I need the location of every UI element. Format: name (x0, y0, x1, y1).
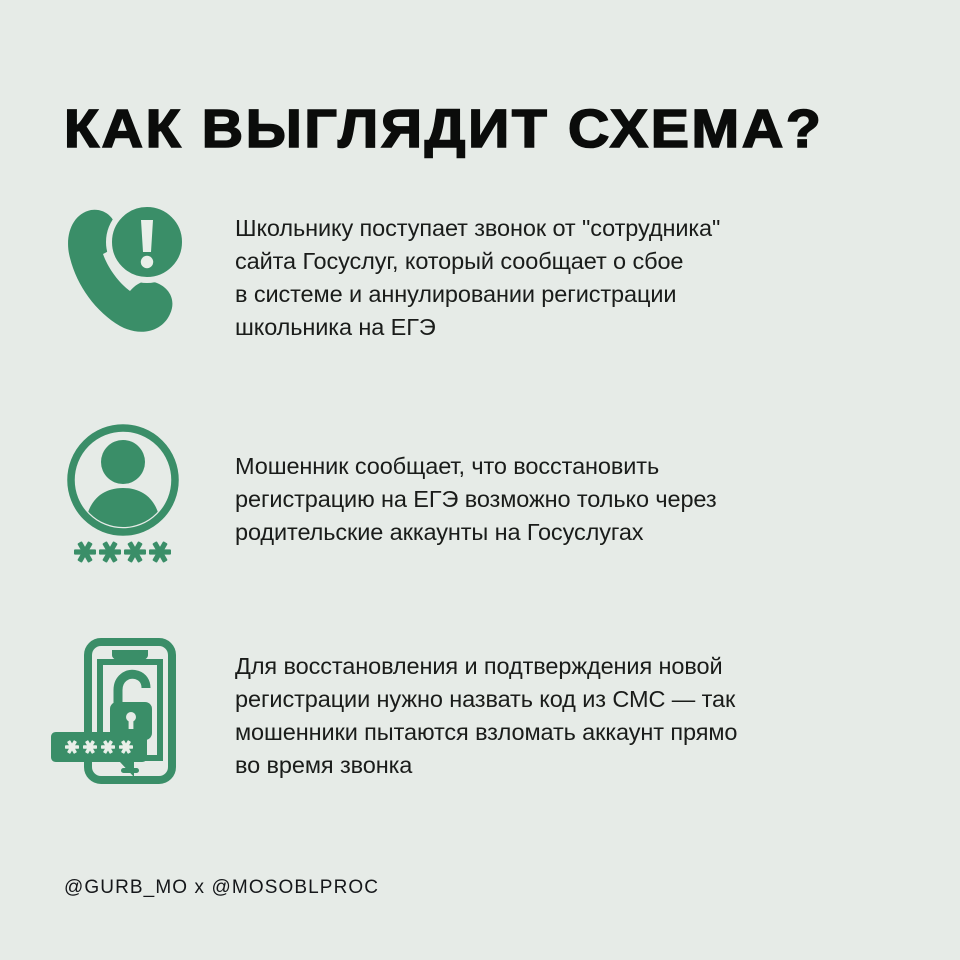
step-item-1: Школьнику поступает звонок от "сотрудник… (0, 196, 960, 344)
step-item-2: Мошенник сообщает, что восстановить реги… (0, 420, 960, 570)
step-1-icon-cell (0, 196, 235, 336)
step-3-icon-cell (0, 636, 235, 786)
step-item-3: Для восстановления и подтверждения новой… (0, 636, 960, 786)
footer-credits: @GURB_MO x @MOSOBLPROC (64, 876, 379, 900)
infographic-poster: КАК ВЫГЛЯДИТ СХЕМА? Школьнику поступает … (0, 0, 960, 960)
page-title: КАК ВЫГЛЯДИТ СХЕМА? (64, 100, 960, 158)
step-2-text-cell: Мошенник сообщает, что восстановить реги… (235, 420, 960, 549)
step-1-text-cell: Школьнику поступает звонок от "сотрудник… (235, 196, 960, 344)
step-2-text: Мошенник сообщает, что восстановить реги… (235, 450, 932, 549)
user-account-password-icon (58, 420, 188, 570)
step-3-text: Для восстановления и подтверждения новой… (235, 650, 932, 782)
smartphone-unlock-sms-icon (50, 636, 195, 786)
password-asterisks (74, 541, 171, 563)
step-1-text: Школьнику поступает звонок от "сотрудник… (235, 212, 932, 344)
step-3-text-cell: Для восстановления и подтверждения новой… (235, 636, 960, 782)
step-2-icon-cell (0, 420, 235, 570)
phone-alert-icon (58, 196, 188, 336)
